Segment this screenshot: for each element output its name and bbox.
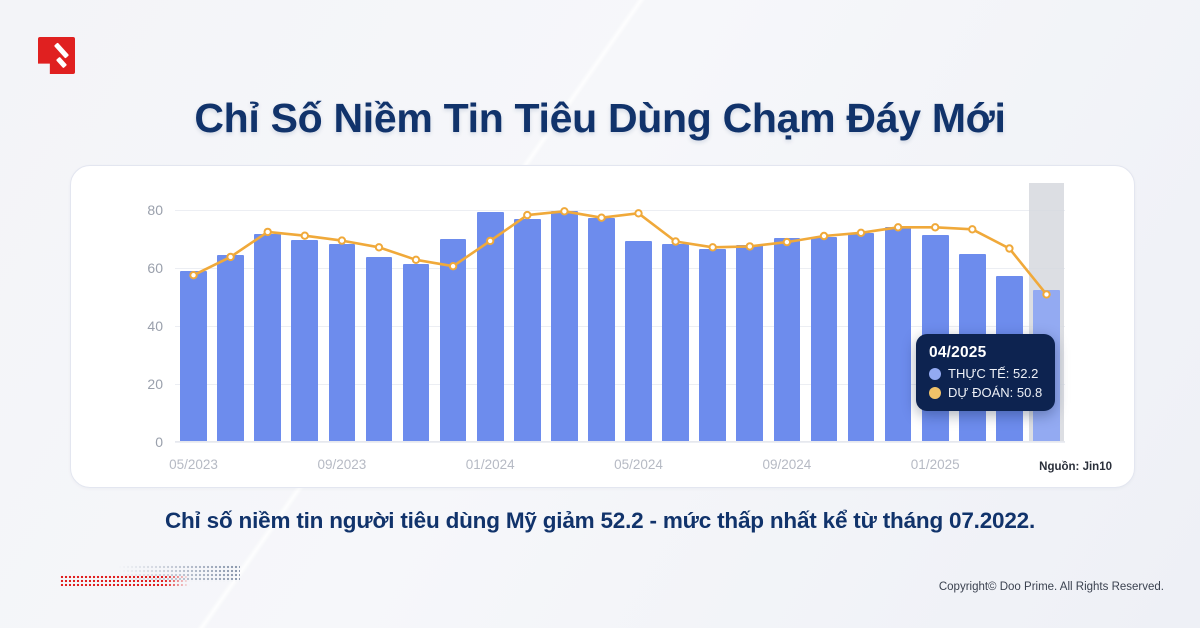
tooltip-actual-dot-icon (929, 368, 941, 380)
chart-tooltip: 04/2025 THỰC TẾ: 52.2 DỰ ĐOÁN: 50.8 (916, 334, 1055, 411)
forecast-line-marker[interactable] (710, 244, 716, 250)
forecast-line-marker[interactable] (895, 224, 901, 230)
x-axis-tick-label: 01/2025 (911, 457, 960, 472)
forecast-line-marker[interactable] (1043, 291, 1049, 297)
decorative-dot-pattern (60, 565, 240, 591)
forecast-line-marker[interactable] (190, 272, 196, 278)
y-axis-tick-label: 80 (147, 202, 163, 218)
dot-pattern-red (60, 575, 190, 586)
chart-card: 020406080 05/202309/202301/202405/202409… (70, 165, 1135, 488)
forecast-line-marker[interactable] (339, 237, 345, 243)
forecast-line-marker[interactable] (784, 239, 790, 245)
forecast-line-marker[interactable] (747, 243, 753, 249)
forecast-line-marker[interactable] (227, 254, 233, 260)
tooltip-forecast-dot-icon (929, 387, 941, 399)
forecast-line-marker[interactable] (821, 233, 827, 239)
y-axis-tick-label: 40 (147, 318, 163, 334)
y-axis-tick-label: 0 (155, 434, 163, 450)
forecast-line-marker[interactable] (413, 257, 419, 263)
chart-baseline (175, 441, 1065, 442)
forecast-line-marker[interactable] (1006, 245, 1012, 251)
forecast-line-marker[interactable] (265, 229, 271, 235)
forecast-line-marker[interactable] (969, 226, 975, 232)
x-axis-tick-label: 05/2023 (169, 457, 218, 472)
forecast-line-marker[interactable] (450, 263, 456, 269)
x-axis-tick-label: 09/2023 (317, 457, 366, 472)
forecast-line-path (194, 211, 1047, 294)
forecast-line-marker[interactable] (635, 210, 641, 216)
forecast-line-marker[interactable] (672, 238, 678, 244)
tooltip-date: 04/2025 (929, 344, 1043, 362)
tooltip-forecast-label: DỰ ĐOÁN: 50.8 (948, 385, 1042, 400)
x-axis-tick-label: 09/2024 (762, 457, 811, 472)
chart-source-label: Nguồn: Jin10 (1039, 461, 1112, 473)
tooltip-forecast-row: DỰ ĐOÁN: 50.8 (929, 385, 1043, 400)
forecast-line-marker[interactable] (858, 230, 864, 236)
page-caption: Chỉ số niềm tin người tiêu dùng Mỹ giảm … (0, 508, 1200, 534)
y-axis-tick-label: 20 (147, 376, 163, 392)
tooltip-actual-label: THỰC TẾ: 52.2 (948, 366, 1038, 381)
x-axis-tick-label: 01/2024 (466, 457, 515, 472)
gridline (175, 442, 1065, 443)
doo-prime-logo (38, 37, 75, 74)
x-axis-tick-label: 05/2024 (614, 457, 663, 472)
forecast-line-marker[interactable] (932, 224, 938, 230)
forecast-line-marker[interactable] (598, 215, 604, 221)
forecast-line-marker[interactable] (487, 238, 493, 244)
y-axis-tick-label: 60 (147, 260, 163, 276)
page-title: Chỉ Số Niềm Tin Tiêu Dùng Chạm Đáy Mới (0, 95, 1200, 142)
copyright-text: Copyright© Doo Prime. All Rights Reserve… (939, 581, 1164, 593)
forecast-line-marker[interactable] (524, 212, 530, 218)
forecast-line-marker[interactable] (302, 233, 308, 239)
forecast-line-marker[interactable] (561, 208, 567, 214)
tooltip-actual-row: THỰC TẾ: 52.2 (929, 366, 1043, 381)
forecast-line-marker[interactable] (376, 244, 382, 250)
